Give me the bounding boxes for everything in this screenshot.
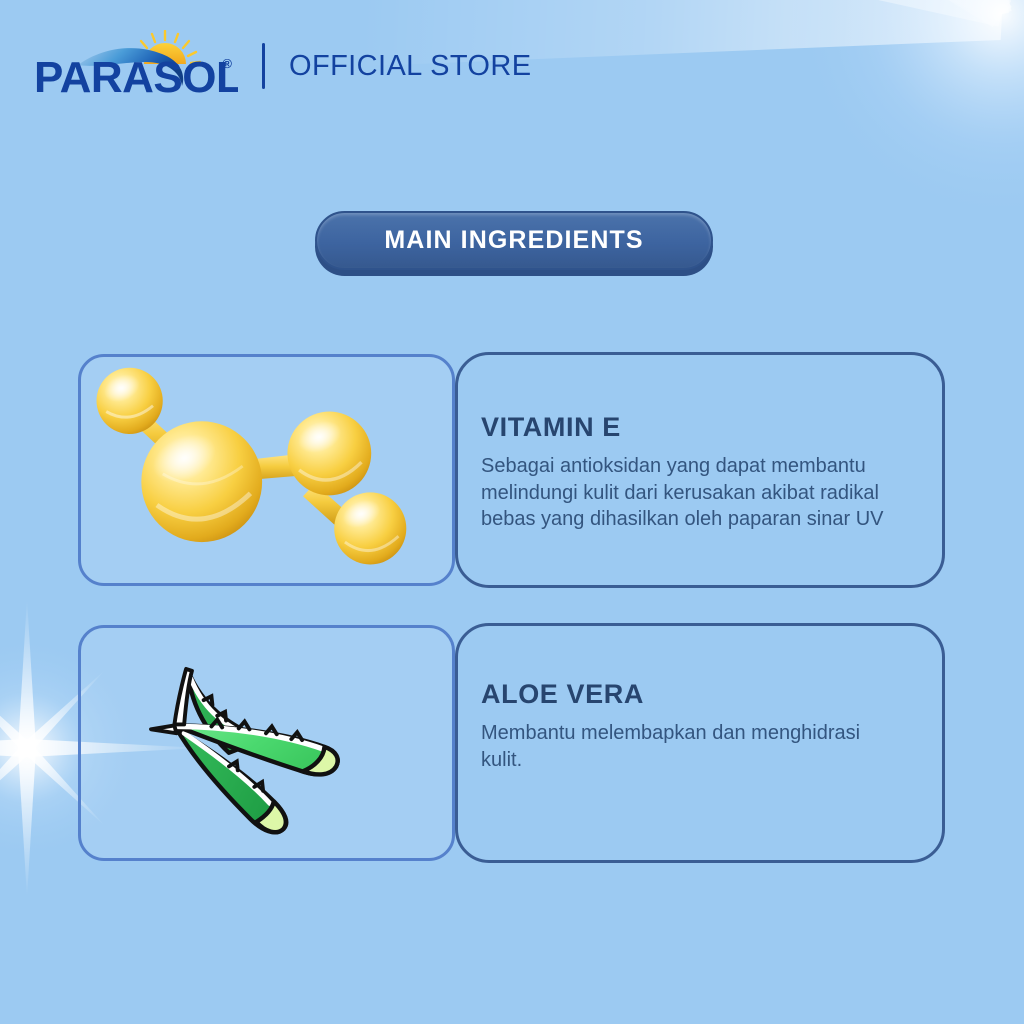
vertical-divider-icon <box>262 43 265 89</box>
badge-label: MAIN INGREDIENTS <box>384 226 643 255</box>
card-image-panel <box>78 354 455 586</box>
card-image-panel <box>78 625 455 861</box>
main-ingredients-badge[interactable]: MAIN INGREDIENTS <box>315 211 713 276</box>
ingredient-title: ALOE VERA <box>481 679 901 710</box>
registered-trademark-icon: ® <box>222 56 232 71</box>
aloe-vera-leaf-icon <box>81 628 452 858</box>
parasol-logo-mark: PARASOL <box>34 30 238 102</box>
ingredient-description: Membantu melembapkan dan menghidrasi kul… <box>481 720 901 773</box>
brand-header: PARASOL ® OFFICIAL STORE <box>34 30 531 102</box>
card-text-panel: ALOE VERA Membantu melembapkan dan mengh… <box>481 679 901 773</box>
official-store-label: OFFICIAL STORE <box>289 50 531 83</box>
card-text-panel: VITAMIN E Sebagai antioksidan yang dapat… <box>481 412 901 533</box>
ingredient-description: Sebagai antioksidan yang dapat membantu … <box>481 453 901 533</box>
svg-text:PARASOL: PARASOL <box>34 53 238 102</box>
oil-molecule-icon <box>81 357 452 583</box>
parasol-logo[interactable]: PARASOL ® <box>34 30 238 102</box>
badge-pill[interactable]: MAIN INGREDIENTS <box>315 211 713 270</box>
ingredient-title: VITAMIN E <box>481 412 901 443</box>
